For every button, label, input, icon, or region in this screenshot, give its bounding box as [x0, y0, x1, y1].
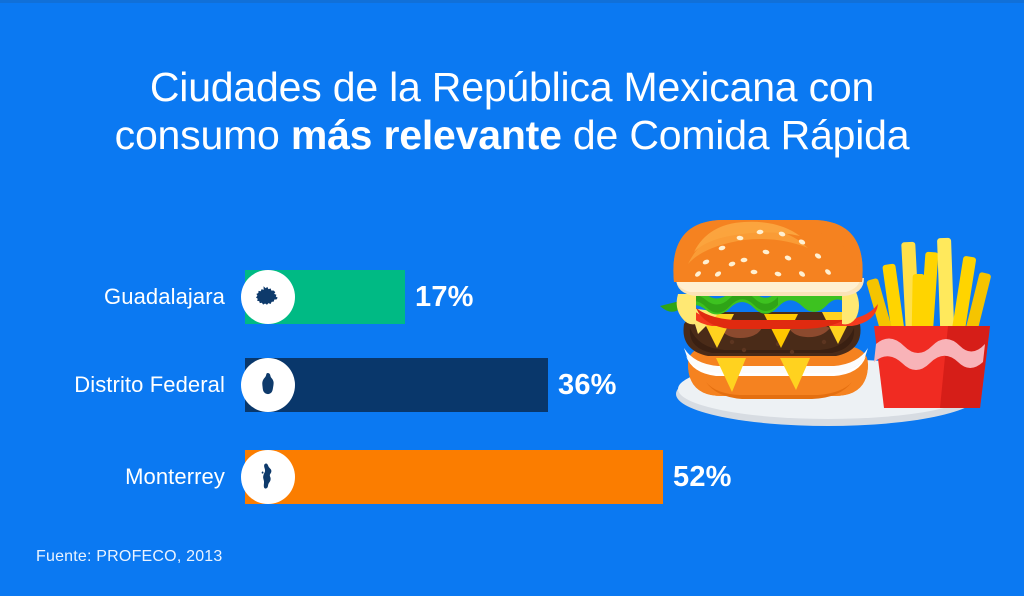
- nuevo-leon-state-map-icon: [241, 450, 295, 504]
- hamburger-and-fries-illustration: [660, 216, 1005, 441]
- title-line-1: Ciudades de la República Mexicana con: [0, 64, 1024, 112]
- bar-label-guadalajara: Guadalajara: [0, 270, 225, 324]
- jalisco-state-map-icon: [241, 270, 295, 324]
- title-line-2-suffix: de Comida Rápida: [562, 112, 910, 158]
- distrito-federal-map-icon: [241, 358, 295, 412]
- chart-row-monterrey: Monterrey 52%: [0, 450, 700, 504]
- title-line-2-prefix: consumo: [115, 112, 291, 158]
- bar-value-distrito-federal: 36%: [558, 358, 617, 412]
- title-line-2: consumo más relevante de Comida Rápida: [0, 112, 1024, 160]
- bar-value-monterrey: 52%: [673, 450, 732, 504]
- bar-track-monterrey: [245, 450, 663, 504]
- source-note: Fuente: PROFECO, 2013: [36, 548, 223, 566]
- chart-row-guadalajara: Guadalajara 17%: [0, 270, 700, 324]
- title-emphasis: más relevante: [291, 112, 562, 158]
- bar-chart: Guadalajara 17% Distrito Federal: [0, 250, 700, 520]
- infographic-poster: Ciudades de la República Mexicana con co…: [0, 0, 1024, 596]
- bar-monterrey: [245, 450, 663, 504]
- chart-row-distrito-federal: Distrito Federal 36%: [0, 358, 700, 412]
- bar-label-distrito-federal: Distrito Federal: [0, 358, 225, 412]
- page-title: Ciudades de la República Mexicana con co…: [0, 64, 1024, 160]
- bar-value-guadalajara: 17%: [415, 270, 474, 324]
- top-edge-divider: [0, 0, 1024, 3]
- bar-label-monterrey: Monterrey: [0, 450, 225, 504]
